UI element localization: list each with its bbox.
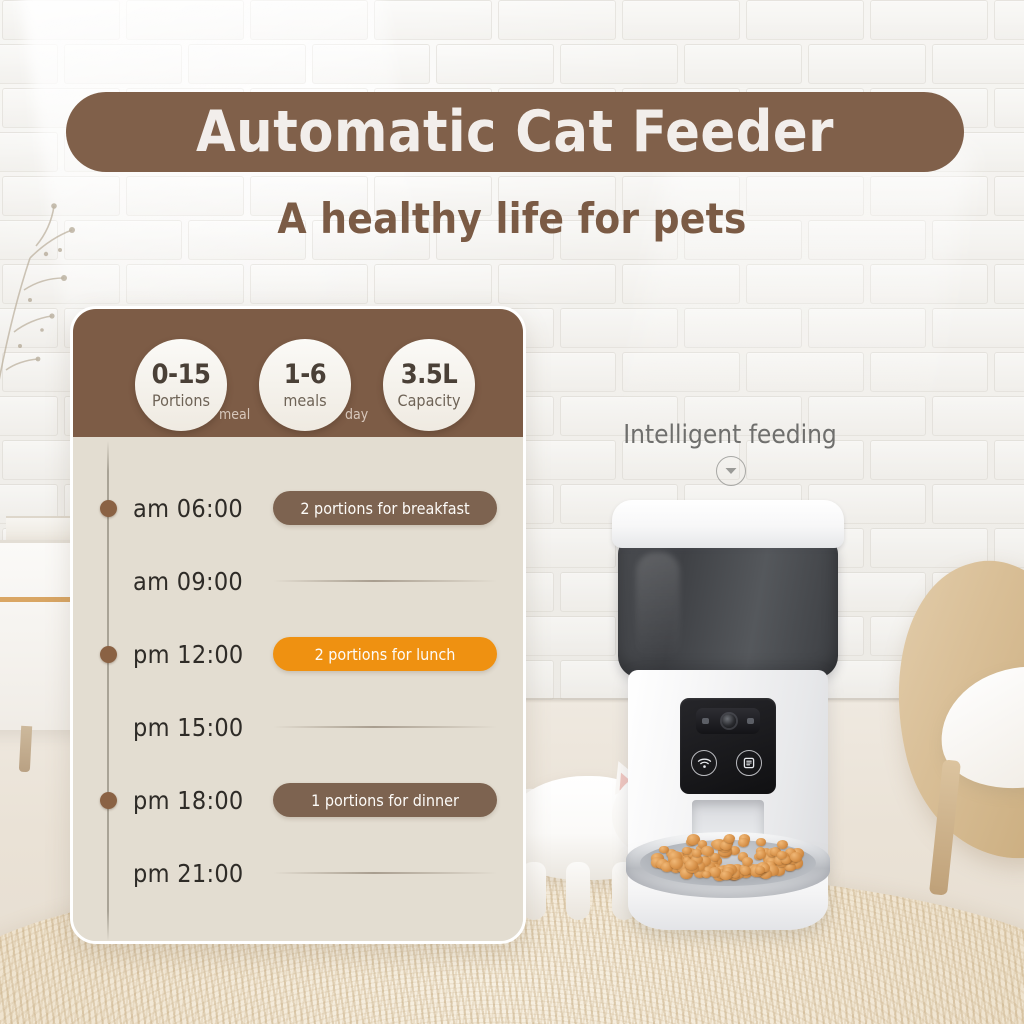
kibble-piece: [756, 838, 766, 846]
page-subtitle: A healthy life for pets: [0, 194, 1024, 243]
badge-value: 1-6: [284, 361, 326, 388]
kibble-piece: [659, 846, 668, 853]
badge-label: meals: [283, 393, 326, 409]
badge-value: 0-15: [152, 361, 211, 388]
badge-unit-day: day: [345, 407, 368, 423]
kibble-piece: [702, 871, 711, 879]
spec-badges: 0-15 Portions meal 1-6 meals day 3.5L Ca…: [73, 309, 523, 437]
schedule-time: pm 15:00: [133, 713, 244, 742]
kibble-piece: [740, 866, 751, 875]
timeline-dot: [100, 500, 117, 517]
kibble-piece: [777, 851, 787, 859]
kibble-piece: [777, 840, 788, 849]
kibble-piece: [756, 850, 766, 858]
schedule-empty-separator: [273, 872, 497, 874]
schedule-time: pm 12:00: [133, 640, 244, 669]
kibble-piece: [742, 857, 753, 866]
schedule-portion-pill[interactable]: 2 portions for lunch: [273, 637, 497, 671]
schedule-time: pm 21:00: [133, 859, 244, 888]
schedule-portion-pill[interactable]: 1 portions for dinner: [273, 783, 497, 817]
badge-unit-meal: meal: [219, 407, 250, 423]
schedule-timeline: am 06:002 portions for breakfastam 09:00…: [73, 437, 523, 944]
feed-dispense-icon[interactable]: [736, 750, 762, 776]
schedule-time: pm 18:00: [133, 786, 244, 815]
wifi-icon[interactable]: [691, 750, 717, 776]
schedule-row[interactable]: pm 18:001 portions for dinner: [73, 775, 523, 825]
camera-lens-icon: [722, 714, 736, 728]
ir-led-icon: [702, 718, 709, 724]
kibble-piece: [720, 871, 731, 880]
badge-value: 3.5L: [401, 361, 458, 388]
schedule-row[interactable]: pm 12:002 portions for lunch: [73, 629, 523, 679]
camera-icon: [696, 708, 760, 734]
automatic-feeder-device: [604, 500, 854, 940]
intelligent-feeding-label: Intelligent feeding: [600, 420, 860, 450]
kibble-piece: [738, 838, 748, 847]
feeder-control-panel: [680, 698, 776, 794]
badge-capacity: 3.5L Capacity: [383, 339, 475, 431]
badge-label: Capacity: [398, 393, 461, 409]
feeding-schedule-card: 0-15 Portions meal 1-6 meals day 3.5L Ca…: [70, 306, 526, 944]
kibble-piece: [755, 866, 765, 874]
schedule-portion-pill[interactable]: 2 portions for breakfast: [273, 491, 497, 525]
schedule-empty-separator: [273, 580, 497, 582]
schedule-empty-separator: [273, 726, 497, 728]
schedule-row[interactable]: am 09:00: [73, 556, 523, 606]
badge-portions: 0-15 Portions: [135, 339, 227, 431]
title-banner: Automatic Cat Feeder: [66, 92, 964, 172]
schedule-time: am 09:00: [133, 567, 243, 596]
schedule-row[interactable]: pm 15:00: [73, 702, 523, 752]
badge-meals: 1-6 meals: [259, 339, 351, 431]
kibble-piece: [701, 846, 714, 856]
schedule-row[interactable]: pm 21:00: [73, 848, 523, 898]
kibble-food: [648, 830, 808, 888]
kibble-piece: [724, 834, 735, 843]
cat-leg: [566, 862, 590, 920]
chevron-down-icon: [716, 456, 746, 486]
badge-label: Portions: [152, 393, 210, 409]
ir-led-icon: [747, 718, 754, 724]
feeder-lid: [612, 500, 844, 548]
timeline-dot: [100, 646, 117, 663]
feeder-hopper: [618, 538, 838, 678]
schedule-row[interactable]: am 06:002 portions for breakfast: [73, 483, 523, 533]
timeline-dot: [100, 792, 117, 809]
schedule-time: am 06:00: [133, 494, 243, 523]
product-infographic: Automatic Cat Feeder A healthy life for …: [0, 0, 1024, 1024]
page-title: Automatic Cat Feeder: [196, 99, 834, 165]
